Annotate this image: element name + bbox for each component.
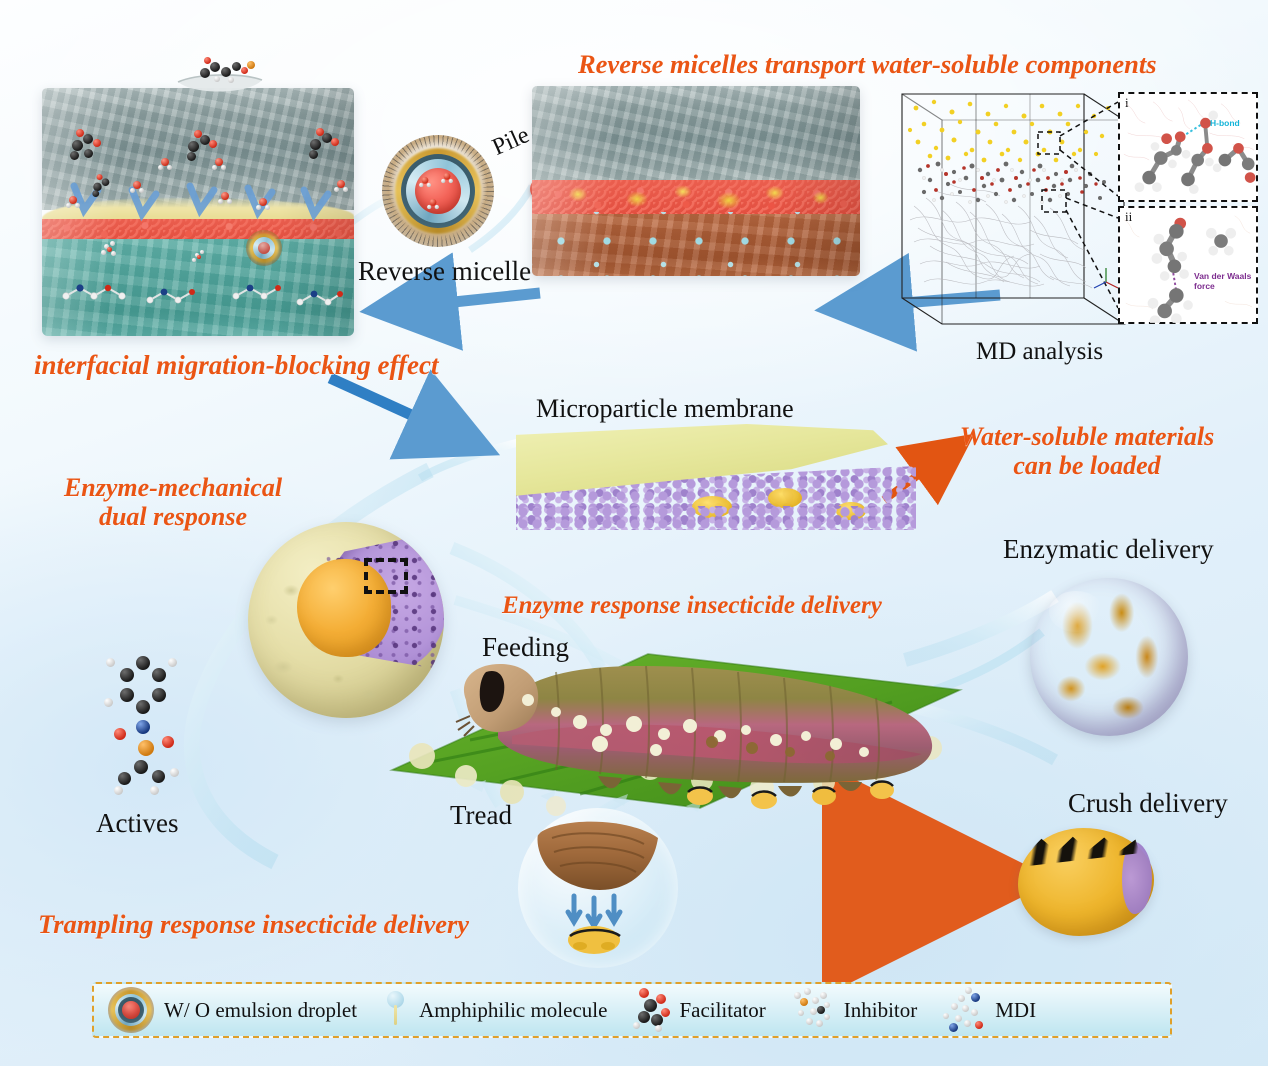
legend-label-amphiphilic-molecule: Amphiphilic molecule	[419, 998, 607, 1023]
facilitator-molecule-icon	[85, 174, 116, 198]
water-molecule-icon	[427, 199, 439, 209]
water-molecule-icon	[441, 173, 453, 183]
md-inset-ii-vdw-label: Van der Waals force	[1194, 272, 1256, 292]
amphiphilic-molecule-icon	[383, 991, 409, 1029]
md-inset-i-molecules	[1120, 94, 1256, 201]
facilitator-molecule-icon	[190, 56, 256, 86]
facilitator-molecule-icon	[631, 988, 671, 1032]
arrow-interfacial-to-microparticle	[330, 378, 440, 428]
crushed-capsule	[1018, 828, 1154, 936]
water-molecule-icon	[419, 177, 431, 187]
microparticle-membrane-slab	[516, 424, 916, 528]
legend-label-mdi: MDI	[995, 998, 1036, 1023]
caterpillar-eye	[480, 671, 505, 712]
capsule-zoom-box-marker	[364, 558, 408, 594]
microparticle-membrane-label: Microparticle membrane	[536, 394, 794, 423]
leaf-surface	[392, 654, 960, 808]
feeding-label: Feeding	[482, 632, 569, 662]
legend-item-inhibitor: Inhibitor	[790, 988, 918, 1032]
caterpillar-head	[464, 664, 538, 732]
tread-label: Tread	[450, 800, 512, 830]
microcapsule-cutaway-sphere	[248, 522, 444, 718]
md-analysis-label: MD analysis	[976, 338, 1103, 366]
legend-item-emulsion-droplet: W/ O emulsion droplet	[108, 987, 357, 1033]
membrane-gloss	[42, 88, 354, 336]
md-inset-i-hbond-label: H-bond	[1210, 118, 1240, 128]
heading-trampling-response: Trampling response insecticide delivery	[38, 910, 469, 940]
water-molecule-icon	[66, 196, 80, 208]
heading-reverse-micelles: Reverse micelles transport water-soluble…	[578, 50, 1157, 80]
legend-label-emulsion-droplet: W/ O emulsion droplet	[164, 998, 357, 1023]
caterpillar-lateral-stripe	[512, 725, 922, 764]
tread-magnifier-bubble	[518, 808, 678, 968]
md-analysis-panel: i	[890, 86, 1260, 336]
emulsion-droplet-icon	[246, 230, 282, 266]
microparticle-purple-bed-front	[516, 506, 916, 530]
legend-panel: W/ O emulsion droplet Amphiphilic molecu…	[92, 982, 1172, 1038]
facilitator-molecule-icon	[300, 128, 344, 160]
membrane-gloss	[532, 86, 860, 276]
legend-label-facilitator: Facilitator	[679, 998, 765, 1023]
water-molecule-icon	[158, 158, 172, 170]
legend-item-facilitator: Facilitator	[631, 988, 765, 1032]
inhibitor-molecule-icon	[190, 248, 208, 266]
arrow-right-to-left-top	[425, 293, 540, 305]
heading-enzyme-response: Enzyme response insecticide delivery	[502, 592, 882, 620]
actives-label: Actives	[96, 808, 178, 838]
heading-water-soluble-loaded: Water-soluble materials can be loaded	[922, 422, 1252, 480]
mdi-molecule-icon	[941, 987, 987, 1033]
membrane-block-interfacial	[42, 88, 354, 336]
legend-item-amphiphilic-molecule: Amphiphilic molecule	[383, 991, 607, 1029]
legend-label-inhibitor: Inhibitor	[844, 998, 918, 1023]
inhibitor-molecule-icon	[790, 988, 836, 1032]
water-soluble-inclusion	[768, 488, 802, 508]
water-molecule-icon	[256, 198, 270, 210]
water-molecule-icon	[130, 181, 144, 193]
water-molecule-icon	[334, 180, 348, 192]
reverse-micelle-label: Reverse micelle	[358, 256, 531, 286]
tread-proleg-detail	[518, 808, 678, 968]
inhibitor-molecule-icon	[98, 238, 120, 260]
water-molecule-icon	[218, 192, 232, 204]
graphical-abstract-figure: Reverse micelle Pile up	[0, 0, 1268, 1066]
enzymatic-delivery-label: Enzymatic delivery	[1003, 534, 1214, 564]
enzymatic-delivery-sphere	[1030, 578, 1188, 736]
membrane-block-reverse-micelle	[532, 86, 860, 276]
md-inset-ii: ii	[1118, 206, 1258, 324]
legend-item-mdi: MDI	[941, 987, 1036, 1033]
emulsion-droplet-icon	[108, 987, 154, 1033]
caterpillar-body	[498, 666, 932, 783]
actives-molecule-icon	[92, 650, 220, 800]
facilitator-molecule-icon	[60, 128, 106, 162]
md-inset-ii-molecules	[1120, 208, 1256, 323]
heading-interfacial-effect: interfacial migration-blocking effect	[34, 350, 438, 380]
water-molecule-icon	[212, 158, 226, 170]
md-inset-i: i	[1118, 92, 1258, 202]
crush-delivery-label: Crush delivery	[1068, 788, 1228, 818]
enzymatic-sphere-highlight	[1049, 591, 1103, 632]
reverse-micelle-diagram	[382, 135, 494, 247]
